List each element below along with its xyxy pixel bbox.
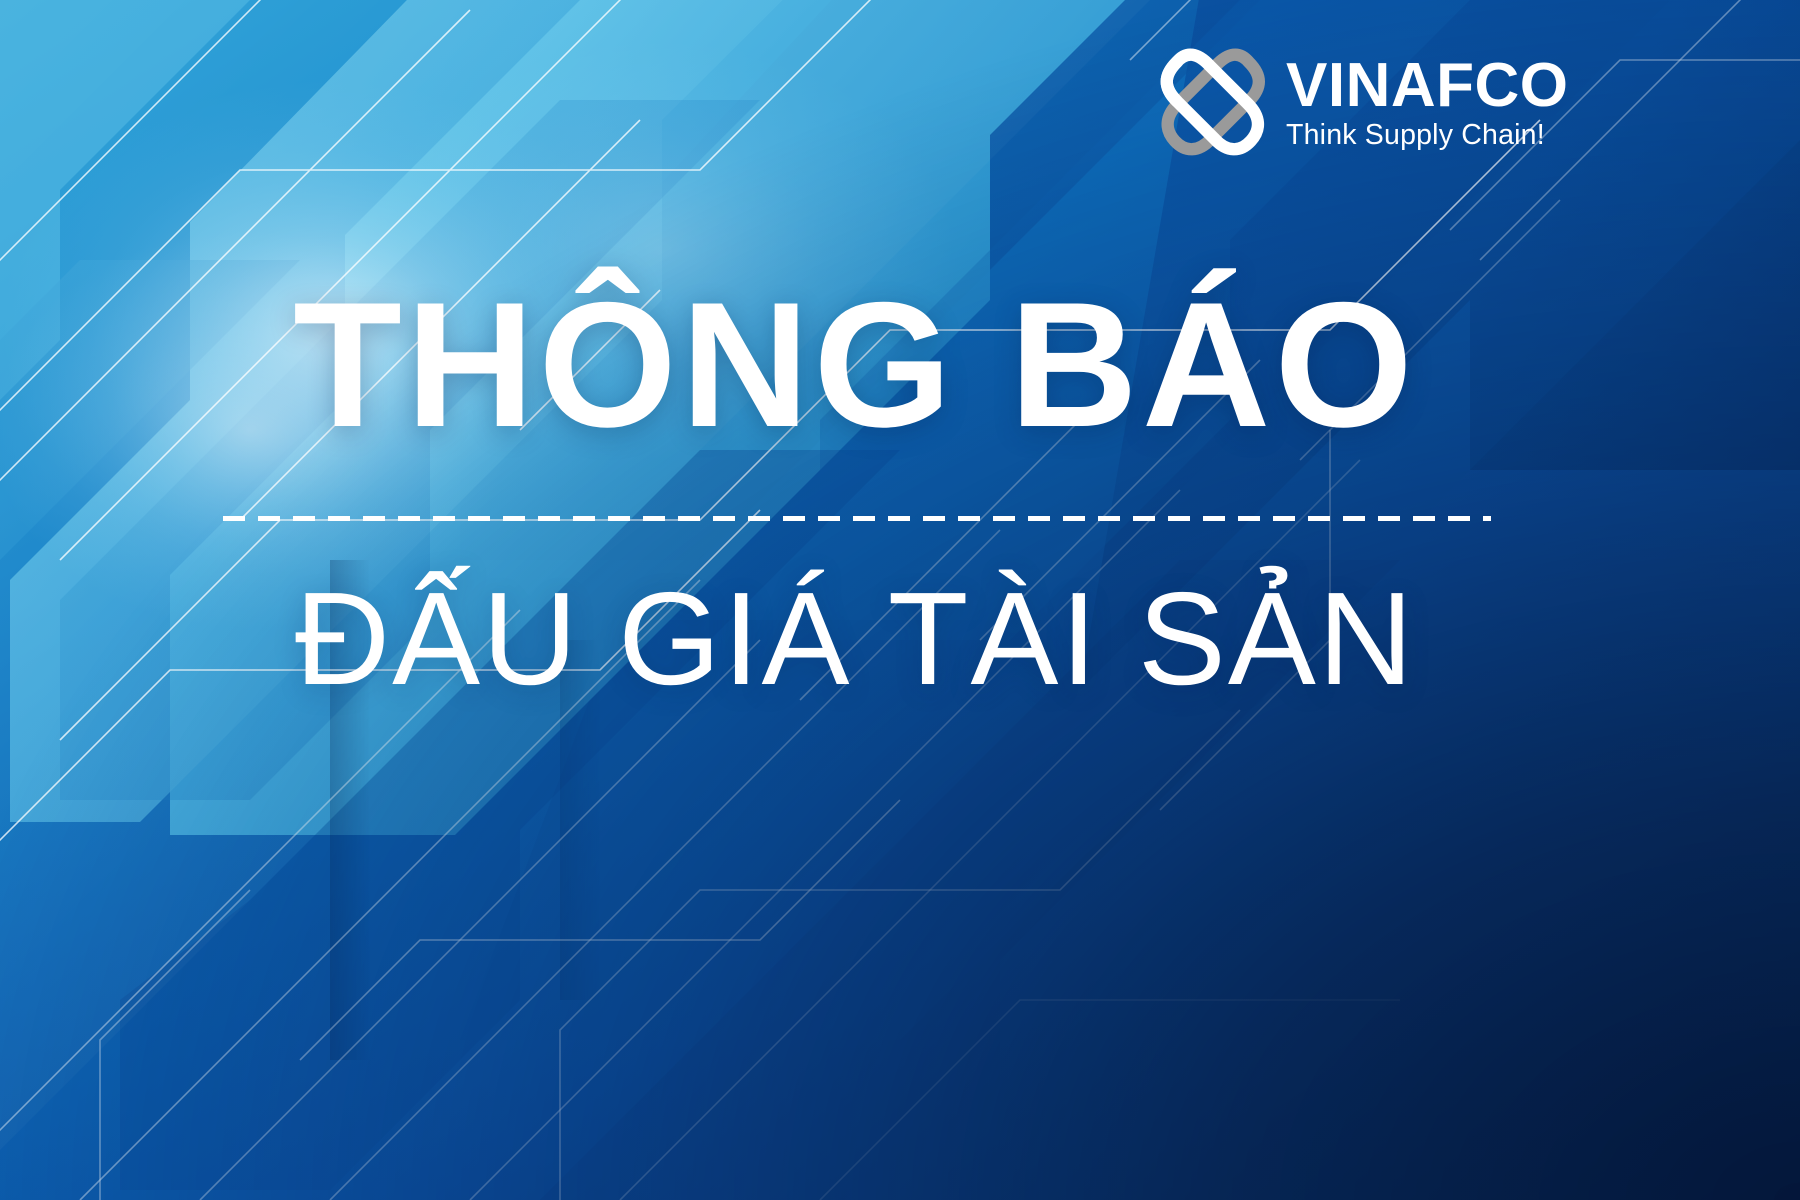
logo-wordmark: VINAFCO [1286, 56, 1569, 116]
logo-tagline: Think Supply Chain! [1286, 121, 1569, 150]
vinafco-chain-link-mark-icon [1152, 46, 1266, 158]
headline-block: THÔNG BÁO ĐẤU GIÁ TÀI SẢN [205, 276, 1505, 705]
announcement-banner: VINAFCO Think Supply Chain! THÔNG BÁO ĐẤ… [0, 0, 1800, 1200]
vinafco-logo: VINAFCO Think Supply Chain! [1152, 42, 1572, 162]
page-subtitle: ĐẤU GIÁ TÀI SẢN [205, 573, 1505, 705]
dashed-divider [223, 516, 1491, 521]
page-title: THÔNG BÁO [205, 276, 1505, 454]
logo-text-block: VINAFCO Think Supply Chain! [1286, 54, 1569, 149]
